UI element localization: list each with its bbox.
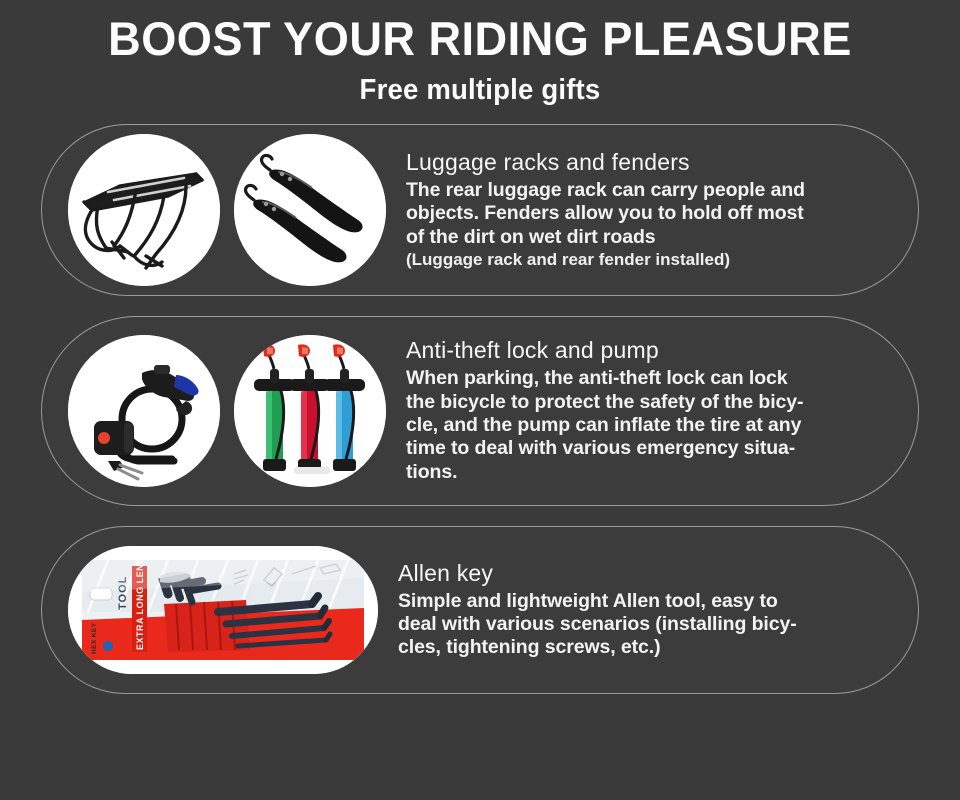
card-description-line: the bicycle to protect the safety of the… [406, 391, 870, 414]
card-description-line: When parking, the anti-theft lock can lo… [406, 367, 870, 390]
gift-card-anti-theft-lock-and-pump: Anti-theft lock and pump When parking, t… [41, 316, 919, 506]
card-description-line: Simple and lightweight Allen tool, easy … [398, 590, 870, 613]
allen-key-set-image: TOOL EXTRA LONG LENGTH HEX KEY [68, 546, 378, 674]
card-media-group: TOOL EXTRA LONG LENGTH HEX KEY [42, 546, 378, 674]
page-title: BOOST YOUR RIDING PLEASURE [19, 14, 941, 65]
luggage-rack-icon [68, 134, 220, 286]
cable-lock-icon [68, 335, 220, 487]
card-description-line: objects. Fenders allow you to hold off m… [406, 202, 870, 225]
cable-lock-image [68, 335, 220, 487]
card-description: Simple and lightweight Allen tool, easy … [398, 590, 870, 660]
allen-key-set-icon: TOOL EXTRA LONG LENGTH HEX KEY [68, 546, 378, 674]
card-media-group [42, 335, 386, 487]
card-description: When parking, the anti-theft lock can lo… [406, 367, 870, 484]
card-title: Anti-theft lock and pump [406, 337, 870, 364]
card-description-line: deal with various scenarios (installing … [398, 613, 870, 636]
gift-cards-list: Luggage racks and fenders The rear lugga… [0, 124, 960, 694]
card-content: Anti-theft lock and pump When parking, t… [386, 337, 918, 484]
card-title: Allen key [398, 560, 870, 587]
page-subtitle: Free multiple gifts [24, 74, 936, 107]
promo-page: BOOST YOUR RIDING PLEASURE Free multiple… [0, 0, 960, 800]
card-title: Luggage racks and fenders [406, 149, 870, 176]
fenders-icon [234, 134, 386, 286]
card-description-line: cles, tightening screws, etc.) [398, 636, 870, 659]
card-note: (Luggage rack and rear fender installed) [406, 250, 870, 270]
gift-card-allen-key: TOOL EXTRA LONG LENGTH HEX KEY [41, 526, 919, 694]
card-media-group [42, 134, 386, 286]
card-content: Luggage racks and fenders The rear lugga… [386, 149, 918, 271]
bike-pumps-image [234, 335, 386, 487]
bike-pumps-icon [234, 335, 386, 487]
gift-card-luggage-racks-and-fenders: Luggage racks and fenders The rear lugga… [41, 124, 919, 296]
card-description-line: The rear luggage rack can carry people a… [406, 179, 870, 202]
svg-text:HEX KEY: HEX KEY [91, 622, 98, 654]
card-description-line: of the dirt on wet dirt roads [406, 226, 870, 249]
card-description: The rear luggage rack can carry people a… [406, 179, 870, 249]
card-description-line: cle, and the pump can inflate the tire a… [406, 414, 870, 437]
card-description-line: time to deal with various emergency situ… [406, 437, 870, 460]
card-content: Allen key Simple and lightweight Allen t… [378, 560, 918, 660]
luggage-rack-image [68, 134, 220, 286]
fenders-image [234, 134, 386, 286]
card-description-line: tions. [406, 461, 870, 484]
page-header: BOOST YOUR RIDING PLEASURE Free multiple… [0, 0, 960, 107]
